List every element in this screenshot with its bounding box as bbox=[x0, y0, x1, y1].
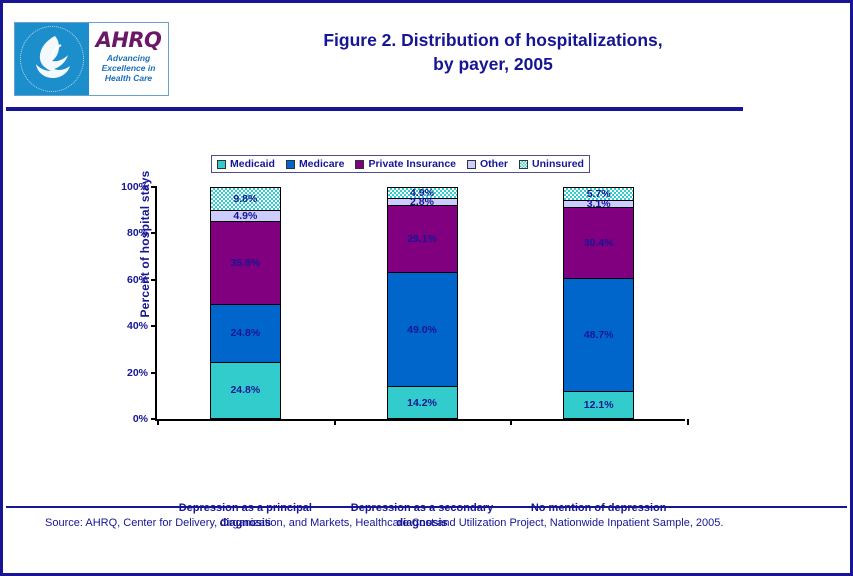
bar-segment-value-label: 48.7% bbox=[584, 330, 614, 340]
x-axis-tick-mark bbox=[510, 419, 512, 425]
legend-item-medicaid: Medicaid bbox=[217, 158, 275, 170]
ahrq-tagline: Advancing Excellence in Health Care bbox=[92, 53, 165, 83]
x-axis-category-line: Depression as a secondary bbox=[327, 501, 517, 516]
header-divider bbox=[6, 107, 743, 111]
page-header: AHRQ Advancing Excellence in Health Care… bbox=[3, 3, 850, 105]
legend-label: Uninsured bbox=[532, 158, 584, 170]
bar-segment-medicare: 48.7% bbox=[563, 278, 634, 391]
ahrq-logo: AHRQ Advancing Excellence in Health Care bbox=[14, 22, 169, 96]
ahrq-tagline-line1: Advancing bbox=[92, 53, 165, 63]
y-axis-tick-label: 40% bbox=[101, 320, 157, 332]
bar-segment-medicaid: 24.8% bbox=[210, 362, 281, 419]
legend-item-uninsured: Uninsured bbox=[519, 158, 584, 170]
bar-segment-medicaid: 14.2% bbox=[387, 386, 458, 419]
ahrq-wordmark: AHRQ bbox=[92, 29, 165, 51]
hhs-seal-icon bbox=[15, 23, 89, 95]
legend-swatch-icon bbox=[519, 160, 528, 169]
y-axis-tick-mark bbox=[151, 372, 157, 374]
ahrq-wordmark-block: AHRQ Advancing Excellence in Health Care bbox=[89, 23, 168, 95]
bar-segment-value-label: 5.7% bbox=[564, 189, 633, 199]
bar-segment-medicare: 49.0% bbox=[387, 272, 458, 386]
bar-segment-value-label: 4.9% bbox=[211, 211, 280, 221]
figure-page: AHRQ Advancing Excellence in Health Care… bbox=[0, 0, 853, 576]
bar-segment-medicaid: 12.1% bbox=[563, 391, 634, 419]
y-axis-tick-mark bbox=[151, 325, 157, 327]
legend-label: Medicaid bbox=[230, 158, 275, 170]
chart: MedicaidMedicarePrivate InsuranceOtherUn… bbox=[3, 115, 850, 495]
bar-segment-value-label: 24.8% bbox=[230, 385, 260, 395]
bar-segment-uninsured: 4.9% bbox=[387, 187, 458, 198]
source-divider bbox=[6, 506, 847, 508]
legend-swatch-icon bbox=[467, 160, 476, 169]
legend-swatch-icon bbox=[286, 160, 295, 169]
x-axis-tick-mark bbox=[157, 419, 159, 425]
ahrq-tagline-line3: Health Care bbox=[92, 73, 165, 83]
x-axis-category-line: Depression as a principal bbox=[150, 501, 340, 516]
bar-segment-value-label: 49.0% bbox=[407, 325, 437, 335]
bar-segment-value-label: 30.4% bbox=[584, 238, 614, 248]
x-axis-tick-mark bbox=[334, 419, 336, 425]
stacked-bar: 14.2%49.0%29.1%2.8%4.9% bbox=[387, 187, 458, 419]
chart-legend: MedicaidMedicarePrivate InsuranceOtherUn… bbox=[211, 155, 590, 173]
bar-segment-value-label: 3.1% bbox=[564, 199, 633, 209]
y-axis-tick-label: 80% bbox=[101, 227, 157, 239]
bar-segment-value-label: 14.2% bbox=[407, 398, 437, 408]
bar-segment-uninsured: 9.8% bbox=[210, 187, 281, 210]
bar-segment-other: 4.9% bbox=[210, 210, 281, 221]
legend-label: Private Insurance bbox=[368, 158, 456, 170]
x-axis-category-line: No mention of depression bbox=[504, 501, 694, 516]
bar-segment-value-label: 35.8% bbox=[230, 258, 260, 268]
x-axis-tick-mark bbox=[687, 419, 689, 425]
bar-segment-value-label: 24.8% bbox=[230, 328, 260, 338]
bar-segment-value-label: 29.1% bbox=[407, 234, 437, 244]
legend-swatch-icon bbox=[355, 160, 364, 169]
y-axis-tick-mark bbox=[151, 279, 157, 281]
plot-area: Percent of hospital stays 0%20%40%60%80%… bbox=[155, 187, 685, 421]
y-axis-tick-mark bbox=[151, 186, 157, 188]
x-axis-category-label: No mention of depression bbox=[504, 501, 694, 516]
page-title: Figure 2. Distribution of hospitalizatio… bbox=[183, 28, 803, 76]
ahrq-tagline-line2: Excellence in bbox=[92, 63, 165, 73]
stacked-bar: 12.1%48.7%30.4%3.1%5.7% bbox=[563, 187, 634, 419]
page-title-line2: by payer, 2005 bbox=[183, 52, 803, 76]
bar-segment-private-insurance: 29.1% bbox=[387, 205, 458, 273]
legend-label: Medicare bbox=[299, 158, 345, 170]
hhs-bird-icon bbox=[25, 31, 79, 87]
bar-segment-uninsured: 5.7% bbox=[563, 187, 634, 200]
legend-item-other: Other bbox=[467, 158, 508, 170]
legend-item-private-insurance: Private Insurance bbox=[355, 158, 456, 170]
source-note: Source: AHRQ, Center for Delivery, Organ… bbox=[45, 515, 805, 531]
y-axis-tick-label: 100% bbox=[101, 181, 157, 193]
bar-segment-value-label: 4.9% bbox=[388, 188, 457, 198]
legend-item-medicare: Medicare bbox=[286, 158, 345, 170]
y-axis-tick-label: 0% bbox=[101, 413, 157, 425]
bar-segment-other: 2.8% bbox=[387, 198, 458, 204]
stacked-bar: 24.8%24.8%35.8%4.9%9.8% bbox=[210, 187, 281, 419]
bar-segment-other: 3.1% bbox=[563, 200, 634, 207]
y-axis-tick-label: 60% bbox=[101, 274, 157, 286]
y-axis-tick-mark bbox=[151, 232, 157, 234]
bar-segment-value-label: 9.8% bbox=[233, 194, 257, 204]
y-axis-tick-label: 20% bbox=[101, 367, 157, 379]
page-title-line1: Figure 2. Distribution of hospitalizatio… bbox=[183, 28, 803, 52]
legend-swatch-icon bbox=[217, 160, 226, 169]
bar-segment-private-insurance: 30.4% bbox=[563, 207, 634, 278]
bar-segment-value-label: 12.1% bbox=[584, 400, 614, 410]
bar-segment-private-insurance: 35.8% bbox=[210, 221, 281, 304]
bar-segment-medicare: 24.8% bbox=[210, 304, 281, 361]
legend-label: Other bbox=[480, 158, 508, 170]
